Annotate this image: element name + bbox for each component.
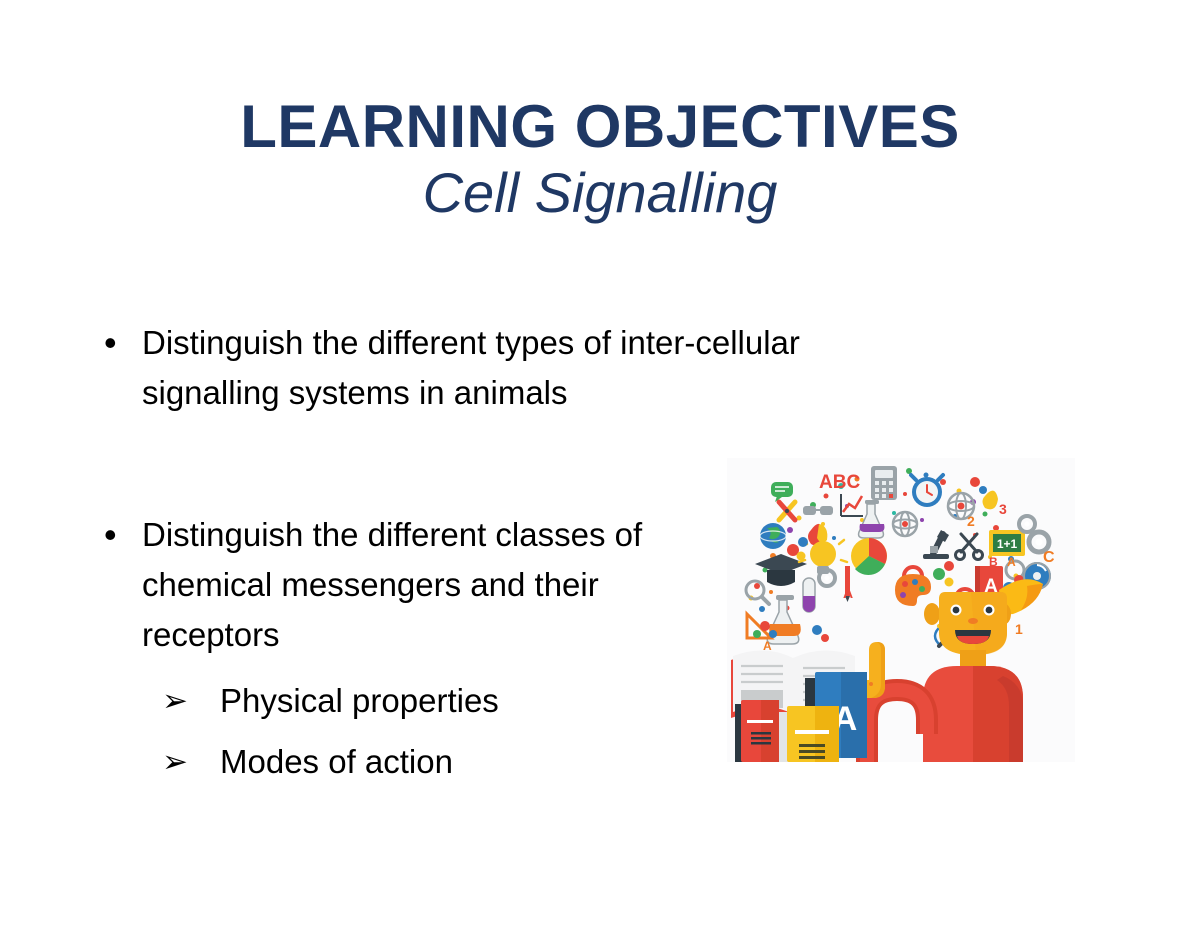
globe-icon: [760, 523, 786, 549]
bullet-dot-icon: •: [104, 510, 142, 560]
arrowhead-bullet-icon: ➢: [162, 670, 220, 731]
yellow-book-icon: [779, 706, 839, 762]
arrowhead-bullet-icon: ➢: [162, 731, 220, 792]
number-3-icon: 3: [999, 501, 1007, 517]
number-1-icon: 1: [1015, 621, 1023, 637]
letter-b-icon: B: [989, 555, 998, 569]
learning-brain-illustration: ABC: [727, 458, 1075, 762]
slide-title-block: LEARNING OBJECTIVES Cell Signalling: [0, 96, 1200, 228]
abc-icon: ABC: [819, 472, 860, 493]
test-tube-icon: [803, 578, 815, 612]
page-title: LEARNING OBJECTIVES: [0, 96, 1200, 158]
letter-a-icon: A: [1007, 555, 1016, 569]
number-2-icon: 2: [967, 513, 975, 529]
books-group: A: [731, 650, 867, 762]
slide-canvas: LEARNING OBJECTIVES Cell Signalling • Di…: [0, 0, 1200, 927]
illustration-artwork: ABC: [727, 458, 1075, 762]
calculator-icon: [871, 466, 897, 500]
red-book-icon: [735, 700, 779, 762]
bullet-dot-icon: •: [104, 318, 142, 368]
bullet-text: Distinguish the different types of inter…: [142, 318, 942, 418]
bullet-text: Distinguish the different classes of che…: [142, 510, 687, 660]
blackboard-text: 1+1: [997, 537, 1018, 551]
letter-a-icon: A: [843, 585, 853, 601]
blackboard-icon: 1+1: [989, 530, 1025, 556]
page-subtitle: Cell Signalling: [0, 158, 1200, 228]
list-item: • Distinguish the different types of int…: [104, 318, 974, 418]
letter-c-icon: C: [1043, 549, 1055, 566]
